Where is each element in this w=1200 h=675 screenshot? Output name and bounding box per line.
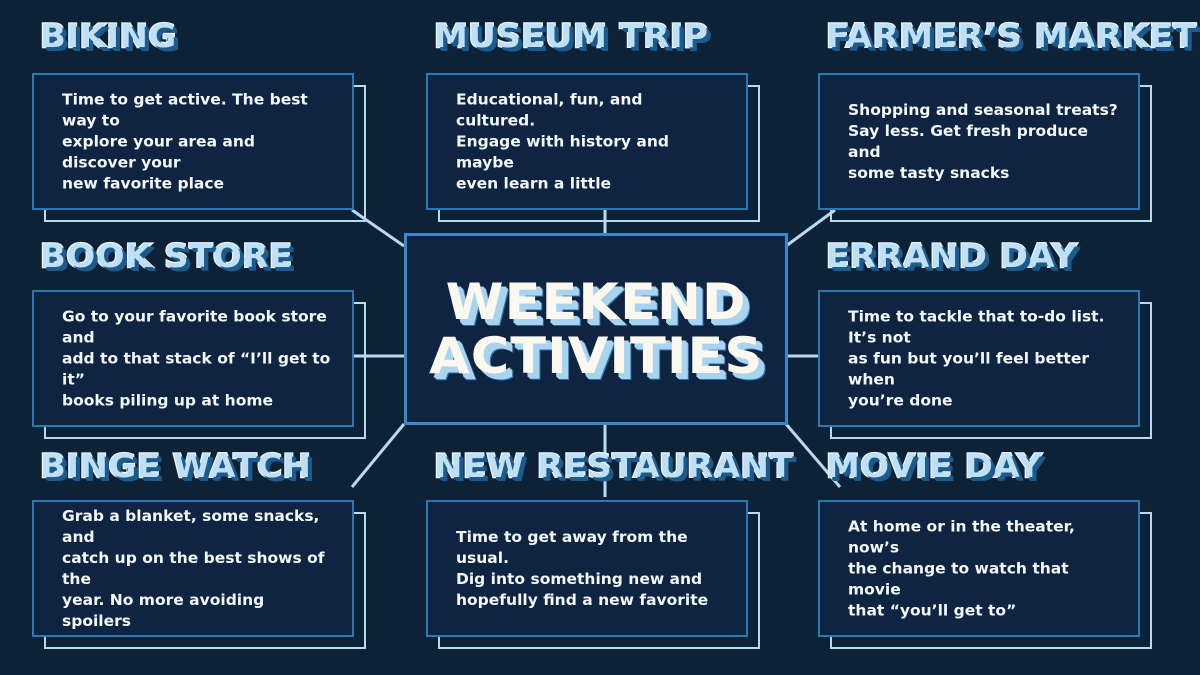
card-biking[interactable]: Time to get active. The best way to expl… <box>32 73 354 210</box>
node-title-movie-day: MOVIE DAY <box>826 448 1042 484</box>
card-text-farmers-market: Shopping and seasonal treats? Say less. … <box>848 100 1118 184</box>
mind-map-canvas: BIKING Time to get active. The best way … <box>0 0 1200 675</box>
node-title-book-store: BOOK STORE <box>40 238 293 274</box>
node-title-errand-day: ERRAND DAY <box>826 238 1077 274</box>
card-new-restaurant[interactable]: Time to get away from the usual. Dig int… <box>426 500 748 637</box>
node-title-binge-watch: BINGE WATCH <box>40 448 311 484</box>
center-node-title: WEEKEND ACTIVITIES <box>429 275 763 383</box>
card-text-museum-trip: Educational, fun, and cultured. Engage w… <box>456 89 726 194</box>
card-text-new-restaurant: Time to get away from the usual. Dig int… <box>456 527 726 611</box>
card-text-book-store: Go to your favorite book store and add t… <box>62 306 332 411</box>
card-text-biking: Time to get active. The best way to expl… <box>62 89 332 194</box>
node-title-museum-trip: MUSEUM TRIP <box>434 18 709 54</box>
card-text-errand-day: Time to tackle that to-do list. It’s not… <box>848 306 1118 411</box>
card-binge-watch[interactable]: Grab a blanket, some snacks, and catch u… <box>32 500 354 637</box>
node-title-biking: BIKING <box>40 18 177 54</box>
center-node[interactable]: WEEKEND ACTIVITIES <box>404 233 788 425</box>
node-title-new-restaurant: NEW RESTAURANT <box>434 448 793 484</box>
card-museum-trip[interactable]: Educational, fun, and cultured. Engage w… <box>426 73 748 210</box>
card-farmers-market[interactable]: Shopping and seasonal treats? Say less. … <box>818 73 1140 210</box>
node-title-farmers-market: FARMER’S MARKET <box>826 18 1196 54</box>
card-errand-day[interactable]: Time to tackle that to-do list. It’s not… <box>818 290 1140 427</box>
card-text-binge-watch: Grab a blanket, some snacks, and catch u… <box>62 506 332 632</box>
card-movie-day[interactable]: At home or in the theater, now’s the cha… <box>818 500 1140 637</box>
card-book-store[interactable]: Go to your favorite book store and add t… <box>32 290 354 427</box>
card-text-movie-day: At home or in the theater, now’s the cha… <box>848 516 1118 621</box>
